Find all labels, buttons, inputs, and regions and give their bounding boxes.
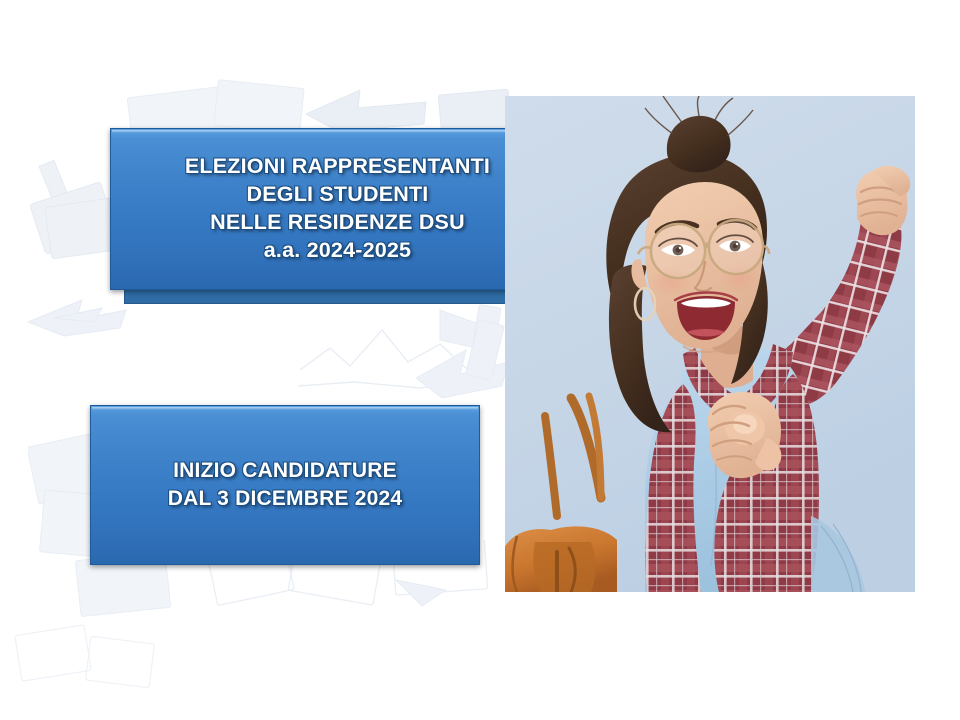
slide-canvas: ELEZIONI RAPPRESENTANTI DEGLI STUDENTI N… (0, 0, 960, 720)
date-banner-text: INIZIO CANDIDATURE DAL 3 DICEMBRE 2024 (154, 457, 416, 512)
student-photo (505, 96, 915, 592)
title-banner: ELEZIONI RAPPRESENTANTI DEGLI STUDENTI N… (110, 128, 565, 290)
title-banner-text: ELEZIONI RAPPRESENTANTI DEGLI STUDENTI N… (171, 153, 504, 265)
date-banner: INIZIO CANDIDATURE DAL 3 DICEMBRE 2024 (90, 405, 480, 565)
title-banner-front: ELEZIONI RAPPRESENTANTI DEGLI STUDENTI N… (110, 128, 565, 290)
watermark-scribble-center (290, 300, 510, 410)
date-banner-front: INIZIO CANDIDATURE DAL 3 DICEMBRE 2024 (90, 405, 480, 565)
watermark-paper-left-low (10, 620, 170, 700)
